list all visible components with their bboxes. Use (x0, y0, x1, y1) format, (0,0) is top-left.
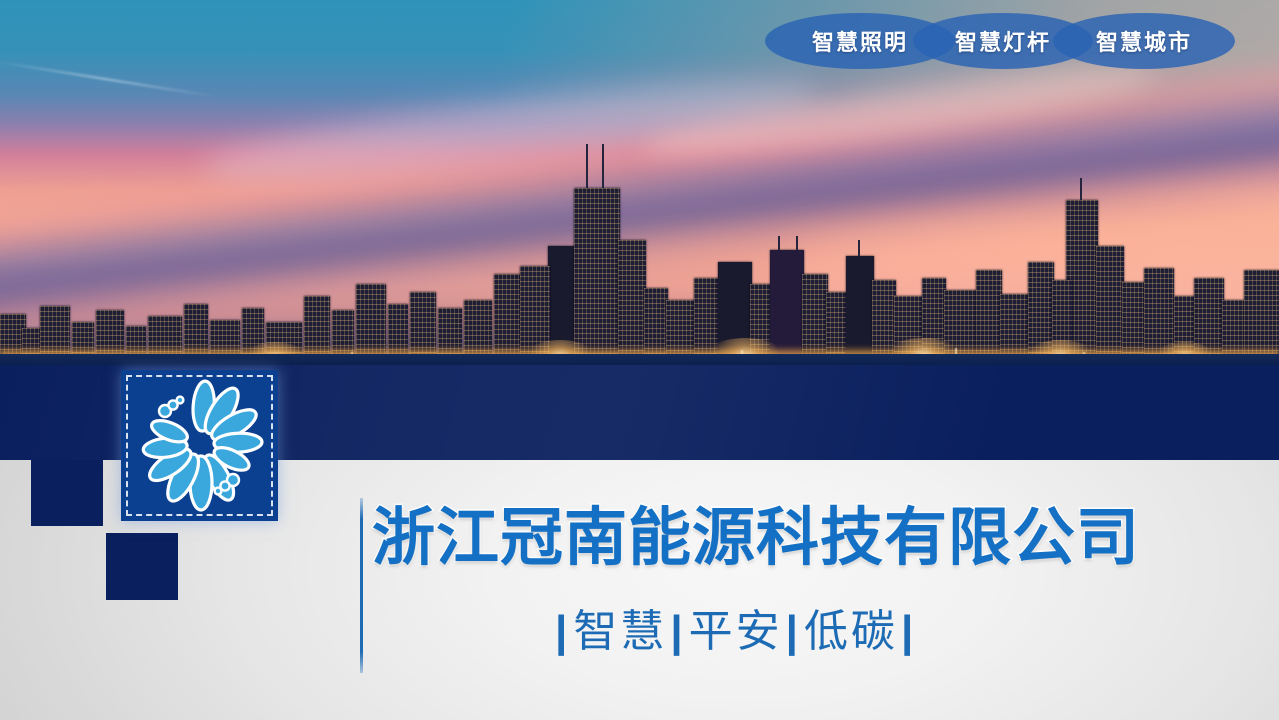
pill-smart-lighting-label: 智慧照明 (812, 25, 908, 57)
decorative-navy-block (31, 460, 103, 526)
pill-smart-city[interactable]: 智慧城市 (1053, 13, 1235, 69)
slogan-word-1: 智慧 (573, 607, 667, 656)
flower-petal-ring-icon (121, 370, 278, 521)
slogan-bar-2: | (783, 607, 804, 656)
slogan-word-2: 平安 (689, 607, 783, 656)
page-title: 浙江冠南能源科技有限公司 (372, 487, 1140, 578)
company-logo[interactable] (121, 370, 278, 521)
slogan: |智慧|平安|低碳| (552, 595, 919, 659)
slogan-bar-1: | (667, 607, 688, 656)
title-slide: 智慧照明 智慧灯杆 智慧城市 (0, 0, 1279, 720)
slogan-bar-left: | (552, 607, 573, 656)
title-accent-line (360, 498, 363, 673)
decorative-navy-square (106, 533, 178, 600)
slogan-word-3: 低碳 (804, 607, 898, 656)
tagline-pill-group: 智慧照明 智慧灯杆 智慧城市 (765, 13, 1235, 71)
pill-smart-city-label: 智慧城市 (1096, 25, 1192, 57)
slogan-bar-right: | (898, 607, 919, 656)
skyline-silhouette (0, 136, 1279, 366)
pill-smart-light-pole-label: 智慧灯杆 (955, 25, 1051, 57)
